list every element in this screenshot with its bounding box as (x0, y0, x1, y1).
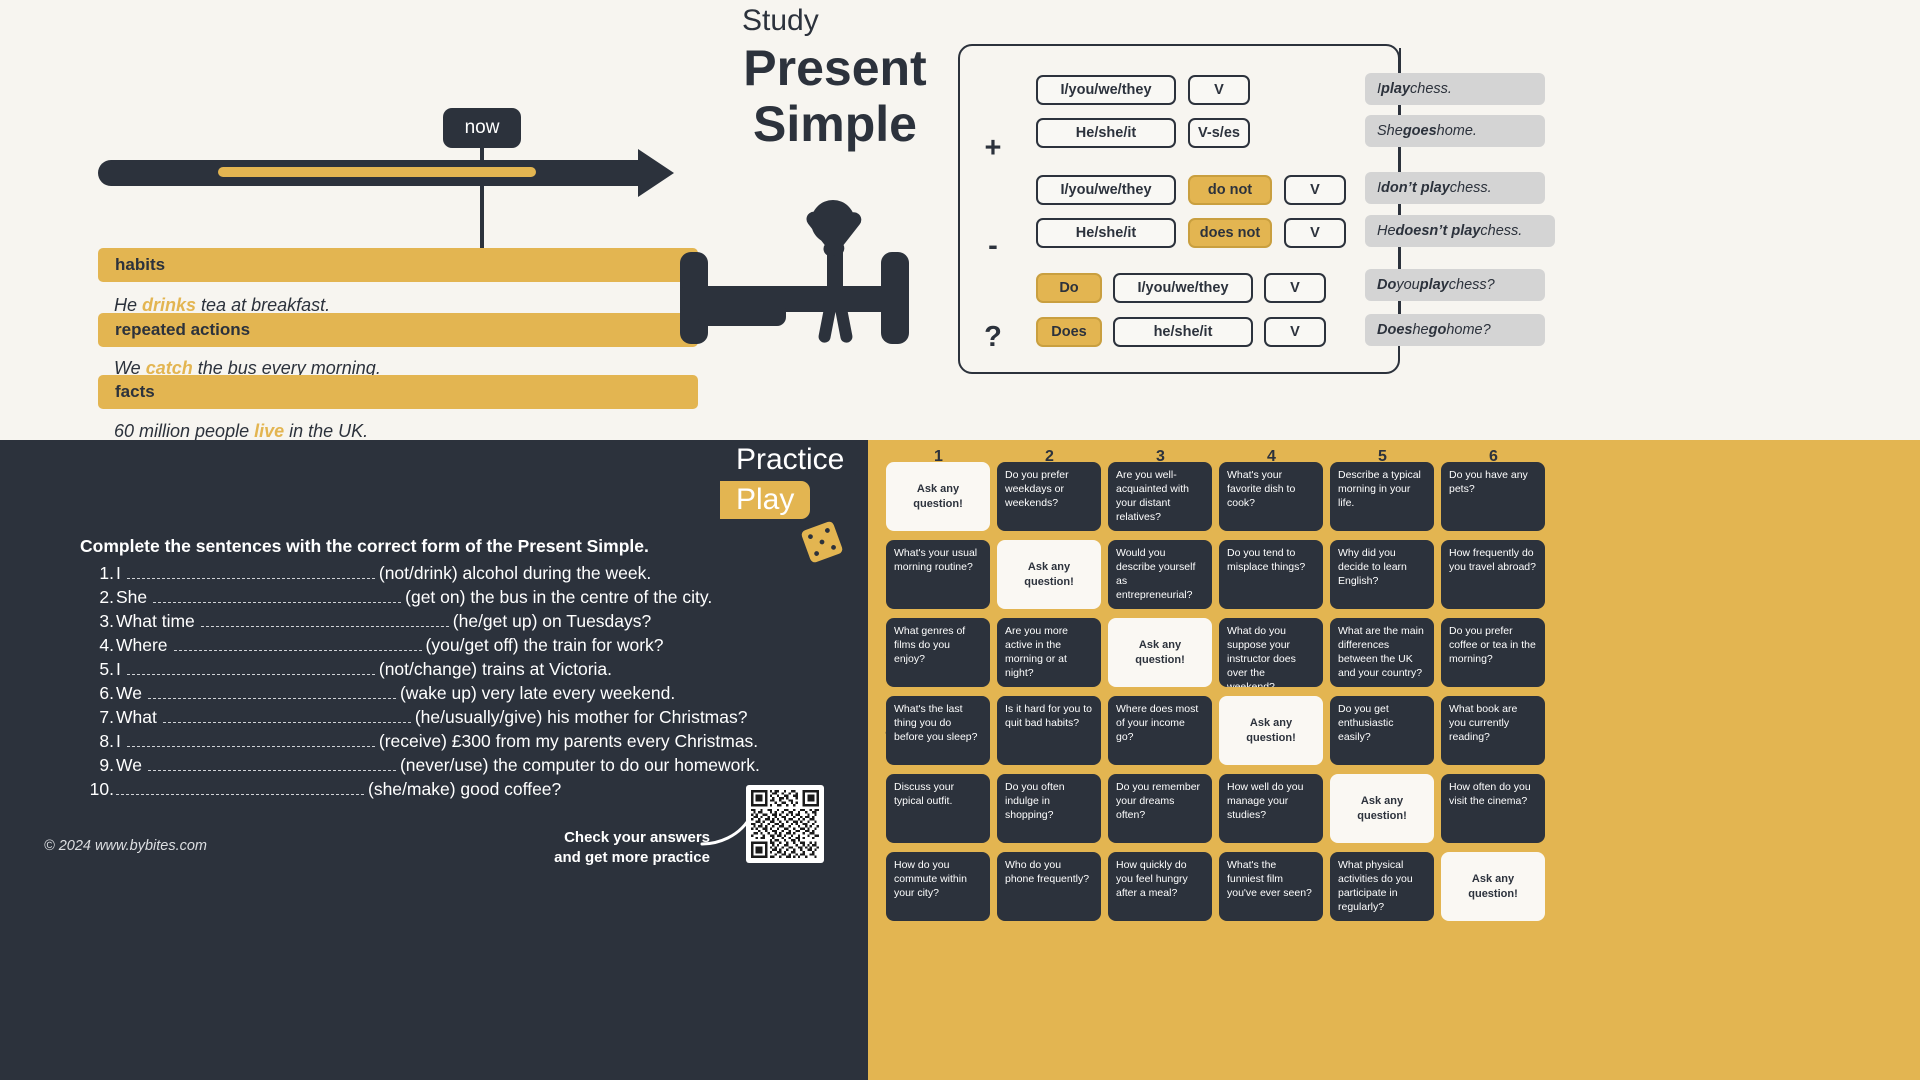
grid-cell-question[interactable]: Would you describe yourself as entrepren… (1108, 540, 1212, 609)
practice-answer-blank[interactable] (153, 588, 401, 603)
practice-sentence-tail: (never/use) the computer to do our homew… (396, 754, 760, 778)
page-title: Present Simple (700, 40, 970, 152)
copyright-text: © 2024 www.bybites.com (44, 838, 207, 854)
practice-sentence-lead: She (114, 586, 147, 610)
practice-sentence-number: 2. (80, 586, 114, 610)
use-example-facts: 60 million people live in the UK. (114, 421, 368, 442)
practice-sentence-tail: (she/make) good coffee? (364, 778, 561, 802)
practice-sentence-number: 6. (80, 682, 114, 706)
practice-sentence-tail: (he/usually/give) his mother for Christm… (411, 706, 748, 730)
grid-cell-question[interactable]: Where does most of your income go? (1108, 696, 1212, 765)
use-band-habits: habits (98, 248, 698, 282)
practice-sentence-tail: (you/get off) the train for work? (422, 634, 664, 658)
grid-cell-question[interactable]: Do you prefer weekdays or weekends? (997, 462, 1101, 531)
grid-cell-question[interactable]: Are you more active in the morning or at… (997, 618, 1101, 687)
check-answers-line2: and get more practice (510, 848, 710, 868)
practice-sentence-number: 5. (80, 658, 114, 682)
practice-sentence-lead: We (114, 754, 142, 778)
practice-answer-blank[interactable] (127, 564, 375, 579)
use-example-pre: He (114, 295, 142, 315)
grid-cell-question[interactable]: What are the main differences between th… (1330, 618, 1434, 687)
practice-sentence-tail: (not/drink) alcohol during the week. (375, 562, 651, 586)
practice-answer-blank[interactable] (127, 732, 375, 747)
use-example-post: tea at breakfast. (196, 295, 330, 315)
use-example-verb: live (254, 421, 284, 441)
grammar-sign-question: ? (978, 321, 1008, 354)
grid-cell-question[interactable]: What's the last thing you do before you … (886, 696, 990, 765)
practice-sentence-row: 8.I(receive) £300 from my parents every … (80, 730, 780, 754)
grid-cell-question[interactable]: Discuss your typical outfit. (886, 774, 990, 843)
grammar-chip-auxiliary: do not (1188, 175, 1272, 205)
grammar-chip-verb: V (1264, 273, 1326, 303)
practice-sentence-number: 9. (80, 754, 114, 778)
example-sentence-positive-1: I play chess. (1365, 73, 1545, 105)
grid-cell-question[interactable]: How quickly do you feel hungry after a m… (1108, 852, 1212, 921)
grid-cell-question[interactable]: Do you get enthusiastic easily? (1330, 696, 1434, 765)
example-connector (1399, 48, 1401, 74)
practice-sentence-row: 9.We(never/use) the computer to do our h… (80, 754, 780, 778)
grid-cell-question[interactable]: Describe a typical morning in your life. (1330, 462, 1434, 531)
page-title-line2: Simple (700, 96, 970, 152)
timeline-highlight-span (218, 167, 536, 177)
check-answers-caption: Check your answers and get more practice (510, 828, 710, 869)
timeline-arrow-icon (638, 149, 674, 197)
example-sentence-question-1: Do you play chess? (1365, 269, 1545, 301)
grid-cell-question[interactable]: Do you prefer coffee or tea in the morni… (1441, 618, 1545, 687)
qr-code[interactable] (746, 785, 824, 863)
example-sentence-negative-2: He doesn’t play chess. (1365, 215, 1555, 247)
practice-sentence-lead: I (114, 562, 121, 586)
play-grid-section: 123456 123456 Ask any question!Do you pr… (868, 440, 1920, 1080)
grammar-chip-auxiliary: Does (1036, 317, 1102, 347)
practice-sentence-tail: (not/change) trains at Victoria. (375, 658, 612, 682)
practice-sentence-lead: What time (114, 610, 195, 634)
grammar-chip-subject: He/she/it (1036, 118, 1176, 148)
example-sentence-question-2: Does he go home? (1365, 314, 1545, 346)
grid-cell-free-question[interactable]: Ask any question! (997, 540, 1101, 609)
practice-sentence-row: 5.I(not/change) trains at Victoria. (80, 658, 780, 682)
use-band-repeated-actions: repeated actions (98, 313, 698, 347)
grammar-chip-auxiliary: Do (1036, 273, 1102, 303)
practice-section: Complete the sentences with the correct … (0, 440, 868, 1080)
grammar-chip-verb: V (1188, 75, 1250, 105)
practice-sentence-lead: I (114, 730, 121, 754)
practice-sentence-row: 6.We(wake up) very late every weekend. (80, 682, 780, 706)
practice-sentence-tail: (receive) £300 from my parents every Chr… (375, 730, 758, 754)
practice-sentence-row: 2.She(get on) the bus in the centre of t… (80, 586, 780, 610)
grid-cell-question[interactable]: Do you remember your dreams often? (1108, 774, 1212, 843)
grid-cell-question[interactable]: What's your usual morning routine? (886, 540, 990, 609)
practice-sentence-number: 4. (80, 634, 114, 658)
grammar-chip-verb: V (1284, 175, 1346, 205)
section-label-practice: Practice (722, 442, 858, 477)
practice-sentence-tail: (get on) the bus in the centre of the ci… (401, 586, 712, 610)
practice-sentence-lead: Where (114, 634, 168, 658)
grammar-table: + - ? I/you/we/they V He/she/it V-s/es I… (958, 44, 1400, 374)
example-sentence-positive-2: She goes home. (1365, 115, 1545, 147)
grammar-chip-subject: I/you/we/they (1036, 175, 1176, 205)
practice-answer-blank[interactable] (163, 708, 411, 723)
practice-answer-blank[interactable] (201, 612, 449, 627)
practice-sentence-lead: What (114, 706, 157, 730)
practice-sentence-row: 4.Where(you/get off) the train for work? (80, 634, 780, 658)
practice-sentence-number: 10. (80, 778, 114, 802)
example-sentence-negative-1: I don’t play chess. (1365, 172, 1545, 204)
practice-sentence-number: 1. (80, 562, 114, 586)
practice-answer-blank[interactable] (174, 636, 422, 651)
example-connector (1399, 147, 1401, 173)
grid-cell-question[interactable]: Why did you decide to learn English? (1330, 540, 1434, 609)
practice-instruction: Complete the sentences with the correct … (80, 536, 649, 557)
grid-cell-question[interactable]: Is it hard for you to quit bad habits? (997, 696, 1101, 765)
grid-cell-question[interactable]: Are you well-acquainted with your distan… (1108, 462, 1212, 531)
use-band-facts: facts (98, 375, 698, 409)
grammar-chip-subject: he/she/it (1113, 317, 1253, 347)
practice-sentence-row: 7.What(he/usually/give) his mother for C… (80, 706, 780, 730)
practice-sentence-row: 3.What time(he/get up) on Tuesdays? (80, 610, 780, 634)
grammar-sign-negative: - (978, 230, 1008, 263)
grid-cell-question[interactable]: Do you have any pets? (1441, 462, 1545, 531)
practice-answer-blank[interactable] (116, 780, 364, 795)
practice-answer-blank[interactable] (127, 660, 375, 675)
section-label-play: Play (720, 481, 810, 519)
grid-cell-question[interactable]: How do you commute within your city? (886, 852, 990, 921)
grid-cell-question[interactable]: Do you tend to misplace things? (1219, 540, 1323, 609)
page-title-line1: Present (700, 40, 970, 96)
practice-sentence-lead: We (114, 682, 142, 706)
grid-cell-free-question[interactable]: Ask any question! (1219, 696, 1323, 765)
practice-sentence-tail: (wake up) very late every weekend. (396, 682, 675, 706)
practice-sentence-number: 8. (80, 730, 114, 754)
grammar-chip-verb: V (1264, 317, 1326, 347)
grid-cell-question[interactable]: What do you suppose your instructor does… (1219, 618, 1323, 687)
use-example-pre: 60 million people (114, 421, 254, 441)
practice-sentence-row: 1.I(not/drink) alcohol during the week. (80, 562, 780, 586)
practice-sentence-list: 1.I(not/drink) alcohol during the week.2… (80, 562, 780, 802)
grid-cell-question[interactable]: Do you often indulge in shopping? (997, 774, 1101, 843)
grammar-chip-auxiliary: does not (1188, 218, 1272, 248)
grammar-sign-positive: + (978, 132, 1008, 165)
grid-cell-free-question[interactable]: Ask any question! (1108, 618, 1212, 687)
section-label-study: Study (742, 4, 819, 38)
practice-answer-blank[interactable] (148, 756, 396, 771)
grammar-chip-subject: He/she/it (1036, 218, 1176, 248)
grid-cell-question[interactable]: Who do you phone frequently? (997, 852, 1101, 921)
use-example-post: in the UK. (284, 421, 368, 441)
grid-cell-free-question[interactable]: Ask any question! (886, 462, 990, 531)
now-label: now (443, 108, 521, 148)
grid-cell-question[interactable]: How frequently do you travel abroad? (1441, 540, 1545, 609)
practice-sentence-number: 3. (80, 610, 114, 634)
practice-sentence-tail: (he/get up) on Tuesdays? (449, 610, 651, 634)
grammar-chip-subject: I/you/we/they (1113, 273, 1253, 303)
timeline-diagram: now habits He drinks tea at breakfast. r… (98, 108, 708, 438)
grammar-chip-verb: V-s/es (1188, 118, 1250, 148)
practice-sentence-row: 10.(she/make) good coffee? (80, 778, 780, 802)
grid-cell-question[interactable]: What's the funniest film you've ever see… (1219, 852, 1323, 921)
grid-cell-question[interactable]: What physical activities do you particip… (1330, 852, 1434, 921)
grid-cell-question[interactable]: What's your favorite dish to cook? (1219, 462, 1323, 531)
check-answers-line1: Check your answers (510, 828, 710, 848)
practice-sentence-number: 7. (80, 706, 114, 730)
grid-cell-question[interactable]: What genres of films do you enjoy? (886, 618, 990, 687)
grid-cell-question[interactable]: How well do you manage your studies? (1219, 774, 1323, 843)
person-waking-up-icon (672, 190, 992, 370)
grid-cell-free-question[interactable]: Ask any question! (1330, 774, 1434, 843)
grid-cell-question[interactable]: What book are you currently reading? (1441, 696, 1545, 765)
use-example-verb: drinks (142, 295, 196, 315)
dice-icon (798, 518, 846, 566)
grid-cell-question[interactable]: How often do you visit the cinema? (1441, 774, 1545, 843)
grid-cell-free-question[interactable]: Ask any question! (1441, 852, 1545, 921)
grammar-chip-subject: I/you/we/they (1036, 75, 1176, 105)
grammar-chip-verb: V (1284, 218, 1346, 248)
practice-sentence-lead: I (114, 658, 121, 682)
practice-answer-blank[interactable] (148, 684, 396, 699)
